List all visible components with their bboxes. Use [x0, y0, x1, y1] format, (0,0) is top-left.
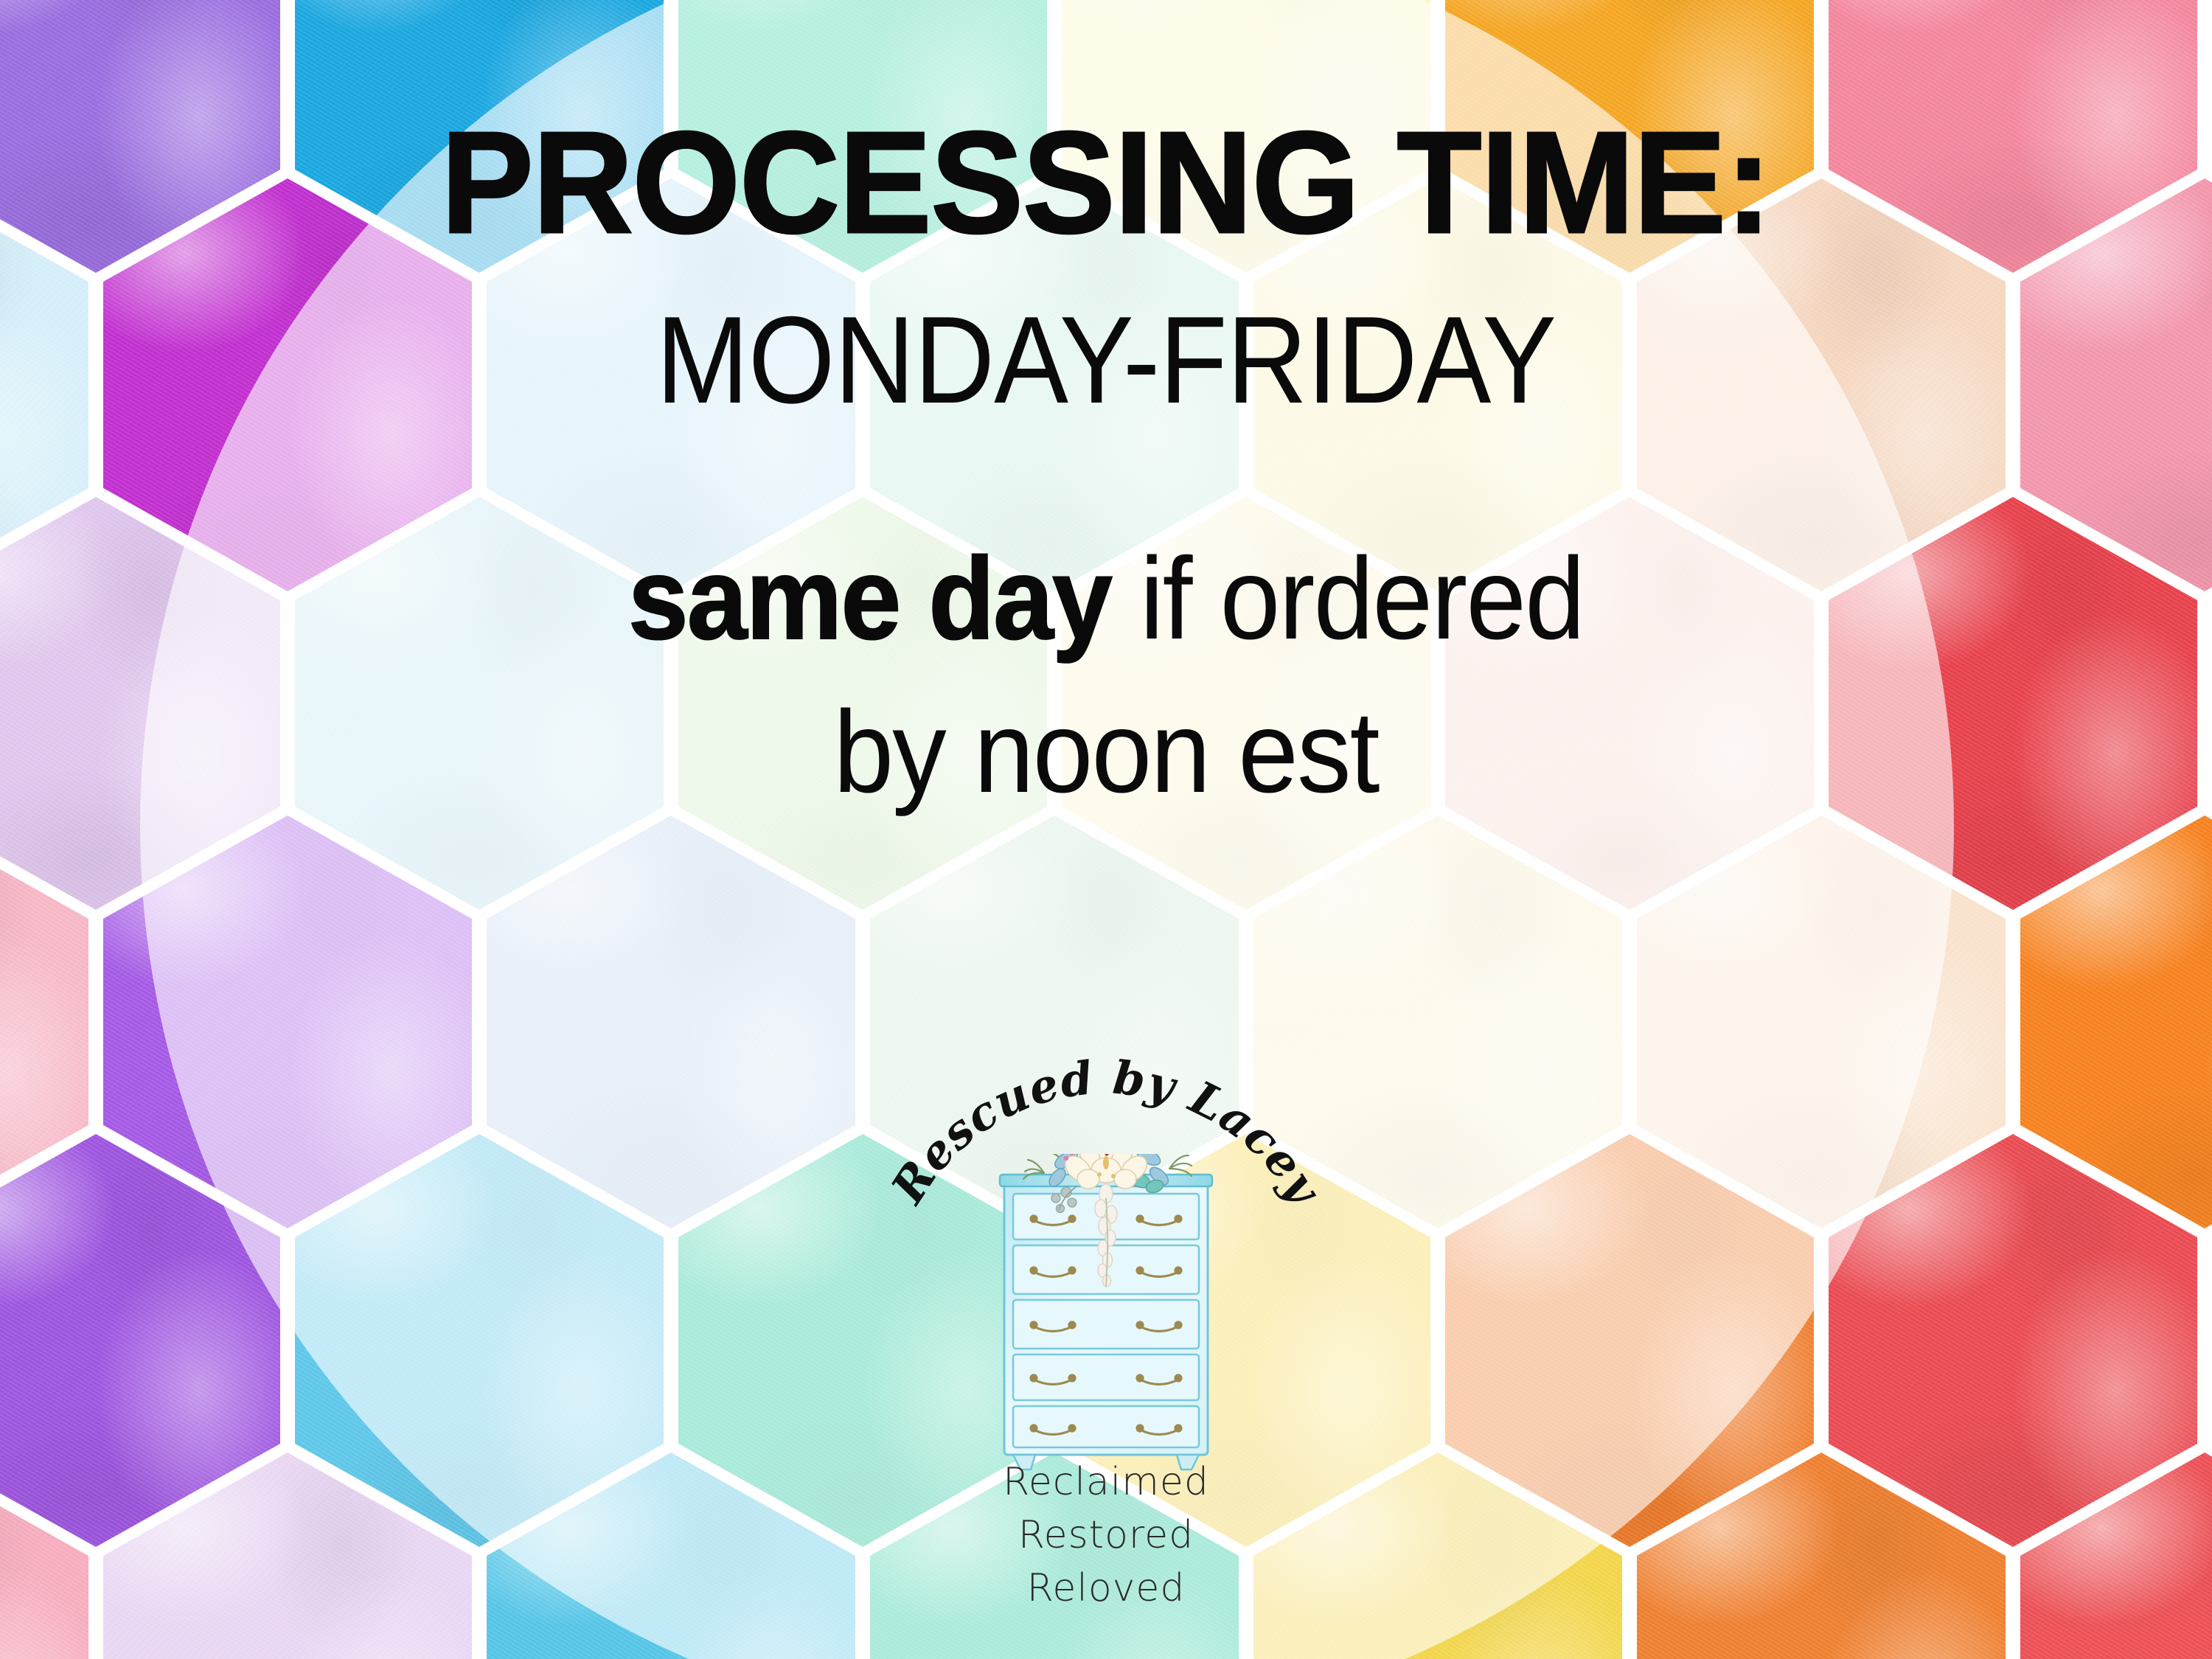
- page-title: PROCESSING TIME:: [44, 111, 2168, 255]
- tagline-line-2: Restored: [1003, 1509, 1209, 1562]
- body-bold-phrase: same day: [628, 534, 1111, 664]
- hex-cell: [103, 815, 472, 1228]
- hex-cell: [1829, 1134, 2197, 1547]
- headline-stack: PROCESSING TIME: MONDAY-FRIDAY same day …: [0, 111, 2212, 819]
- hex-cell: [1637, 815, 2006, 1228]
- hex-cell: [295, 1134, 664, 1547]
- body-line-1: same day if ordered: [77, 532, 2135, 667]
- body-line-2: by noon est: [77, 686, 2135, 820]
- tagline-line-1: Reclaimed: [1003, 1456, 1209, 1509]
- subtitle: MONDAY-FRIDAY: [111, 298, 2101, 422]
- logo-tagline: Reclaimed Restored Reloved: [1003, 1456, 1209, 1615]
- brand-logo: Rescued by Lacey: [870, 1029, 1342, 1604]
- hex-cell: [487, 815, 855, 1228]
- hex-cell: [1445, 1134, 1814, 1547]
- body-rest-phrase: if ordered: [1111, 534, 1584, 664]
- processing-time-poster: PROCESSING TIME: MONDAY-FRIDAY same day …: [0, 0, 2212, 1659]
- dresser-illustration: [995, 1154, 1217, 1475]
- dresser-svg: [995, 1154, 1217, 1471]
- tagline-line-3: Reloved: [1003, 1562, 1209, 1615]
